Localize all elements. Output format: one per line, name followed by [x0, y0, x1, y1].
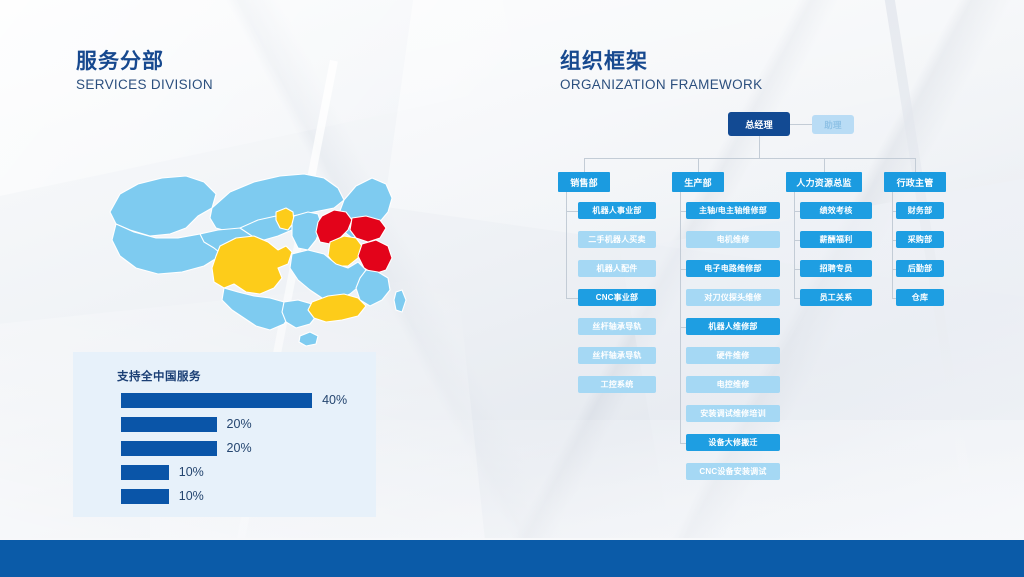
- chart-bar: [121, 465, 169, 480]
- org-chart: 总经理助理销售部生产部人力资源总监行政主管机器人事业部二手机器人买卖机器人配件C…: [548, 112, 978, 512]
- connector-root-trunk: [759, 136, 760, 158]
- org-node-4-3[interactable]: 后勤部: [896, 260, 944, 277]
- org-node-2-5[interactable]: 机器人维修部: [686, 318, 780, 335]
- org-node-2-4[interactable]: 对刀仪探头维修: [686, 289, 780, 306]
- org-node-root[interactable]: 总经理: [728, 112, 790, 136]
- org-node-2-1[interactable]: 主轴/电主轴维修部: [686, 202, 780, 219]
- connector-column-spine-3: [794, 192, 795, 298]
- chart-bar-value: 40%: [322, 393, 347, 407]
- org-node-department-1[interactable]: 销售部: [558, 172, 610, 192]
- connector-child-2-1: [680, 211, 686, 212]
- map-province-guangdong-yellow: [308, 294, 366, 322]
- connector-child-2-9: [680, 443, 686, 444]
- connector-child-4-3: [892, 269, 896, 270]
- map-province-hainan: [299, 332, 318, 346]
- chart-bar-row: 10%: [121, 464, 361, 480]
- org-node-1-5[interactable]: 丝杆轴承导轨: [578, 318, 656, 335]
- connector-dept-drop-2: [824, 158, 825, 172]
- connector-column-spine-1: [566, 192, 567, 298]
- services-title-cn: 服务分部: [76, 50, 213, 74]
- china-map: [100, 150, 430, 365]
- chart-title: 支持全中国服务: [117, 368, 201, 384]
- chart-bar-value: 10%: [179, 465, 204, 479]
- org-node-department-4[interactable]: 行政主管: [884, 172, 946, 192]
- org-node-2-8[interactable]: 安装调试维修培训: [686, 405, 780, 422]
- chart-bars: 40%20%20%10%10%: [121, 392, 361, 512]
- connector-child-3-4: [794, 298, 800, 299]
- org-node-2-6[interactable]: 硬件维修: [686, 347, 780, 364]
- organization-framework-heading: 组织框架 ORGANIZATION FRAMEWORK: [560, 50, 762, 93]
- chart-bar-value: 20%: [227, 417, 252, 431]
- org-node-3-4[interactable]: 员工关系: [800, 289, 872, 306]
- org-node-2-9[interactable]: 设备大修搬迁: [686, 434, 780, 451]
- map-province-taiwan: [394, 290, 406, 312]
- chart-bar-row: 20%: [121, 416, 361, 432]
- connector-child-4-2: [892, 240, 896, 241]
- map-province-sichuan-yellow: [212, 236, 292, 294]
- org-node-1-2[interactable]: 二手机器人买卖: [578, 231, 656, 248]
- org-node-1-6[interactable]: 丝杆轴承导轨: [578, 347, 656, 364]
- chart-bar: [121, 393, 312, 408]
- connector-child-3-3: [794, 269, 800, 270]
- connector-child-3-1: [794, 211, 800, 212]
- connector-child-2-5: [680, 327, 686, 328]
- org-node-4-2[interactable]: 采购部: [896, 231, 944, 248]
- connector-child-3-2: [794, 240, 800, 241]
- services-title-en: SERVICES DIVISION: [76, 77, 213, 93]
- chart-bar: [121, 441, 217, 456]
- org-node-department-3[interactable]: 人力资源总监: [786, 172, 862, 192]
- connector-dept-bus: [584, 158, 915, 159]
- org-node-2-3[interactable]: 电子电路维修部: [686, 260, 780, 277]
- org-node-2-7[interactable]: 电控维修: [686, 376, 780, 393]
- connector-column-spine-4: [892, 192, 893, 298]
- support-chart-panel: 支持全中国服务 40%20%20%10%10%: [73, 352, 376, 517]
- org-title-en: ORGANIZATION FRAMEWORK: [560, 77, 762, 93]
- connector-child-1-1: [566, 211, 578, 212]
- slide-canvas: 服务分部 SERVICES DIVISION 组织框架 ORGANIZATION…: [0, 0, 1024, 577]
- footer-bar: [0, 540, 1024, 577]
- org-node-assistant[interactable]: 助理: [812, 115, 854, 134]
- connector-column-spine-2: [680, 192, 681, 443]
- org-node-1-4[interactable]: CNC事业部: [578, 289, 656, 306]
- org-node-4-4[interactable]: 仓库: [896, 289, 944, 306]
- chart-bar-value: 10%: [179, 489, 204, 503]
- chart-bar: [121, 489, 169, 504]
- connector-dept-drop-3: [915, 158, 916, 172]
- org-node-3-2[interactable]: 薪酬福利: [800, 231, 872, 248]
- chart-bar-row: 10%: [121, 488, 361, 504]
- chart-bar-row: 40%: [121, 392, 361, 408]
- connector-child-2-3: [680, 269, 686, 270]
- connector-child-1-4: [566, 298, 578, 299]
- org-node-1-1[interactable]: 机器人事业部: [578, 202, 656, 219]
- map-province-yunnan-guizhou: [222, 288, 292, 330]
- chart-bar: [121, 417, 217, 432]
- org-node-2-2[interactable]: 电机维修: [686, 231, 780, 248]
- connector-dept-drop-1: [698, 158, 699, 172]
- connector-child-4-1: [892, 211, 896, 212]
- org-node-1-7[interactable]: 工控系统: [578, 376, 656, 393]
- org-node-3-3[interactable]: 招聘专员: [800, 260, 872, 277]
- org-node-3-1[interactable]: 绩效考核: [800, 202, 872, 219]
- connector-dept-drop-0: [584, 158, 585, 172]
- connector-child-4-4: [892, 298, 896, 299]
- org-node-department-2[interactable]: 生产部: [672, 172, 724, 192]
- org-title-cn: 组织框架: [560, 50, 762, 74]
- org-node-1-3[interactable]: 机器人配件: [578, 260, 656, 277]
- map-province-xinjiang: [110, 176, 216, 236]
- services-division-heading: 服务分部 SERVICES DIVISION: [76, 50, 213, 93]
- chart-bar-row: 20%: [121, 440, 361, 456]
- chart-bar-value: 20%: [227, 441, 252, 455]
- org-node-2-10[interactable]: CNC设备安装调试: [686, 463, 780, 480]
- connector-root-assistant: [790, 124, 812, 125]
- org-node-4-1[interactable]: 财务部: [896, 202, 944, 219]
